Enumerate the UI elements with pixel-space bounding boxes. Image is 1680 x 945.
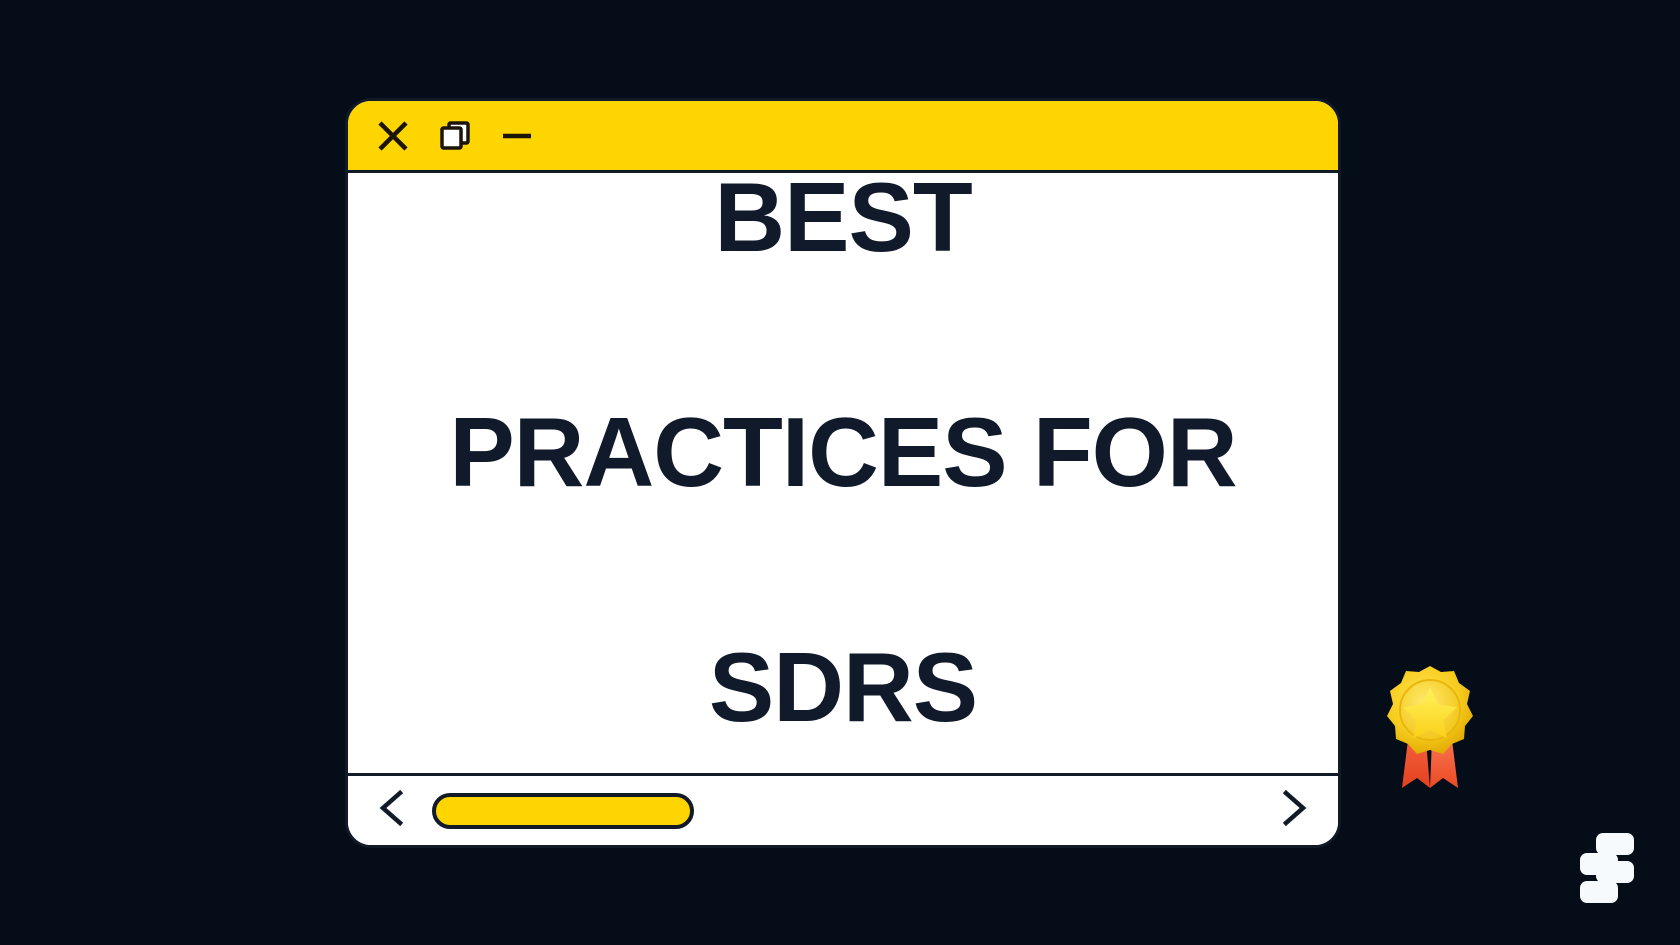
next-button[interactable] [1276,789,1312,833]
window-bottombar [348,773,1338,845]
close-button[interactable] [372,115,414,157]
close-x-icon [376,119,410,153]
window-content: BEST BEST PRACTICES FOR SDRS [348,173,1338,773]
prev-button[interactable] [374,789,410,833]
chevron-right-icon [1279,789,1309,832]
retro-window: BEST BEST PRACTICES FOR SDRS [345,98,1341,848]
scrollbar-track[interactable] [432,789,1254,833]
page-background: BEST BEST PRACTICES FOR SDRS [0,0,1680,945]
headline-line-2: PRACTICES FOR [449,394,1236,512]
chevron-left-icon [377,789,407,832]
brand-s-logo [1568,831,1636,907]
headline-text: BEST PRACTICES FOR SDRS [449,98,1236,848]
headline-line-3: SDRS [449,629,1236,747]
award-medal-emoji [1378,662,1482,792]
headline-line-1: BEST [449,159,1236,277]
scrollbar-thumb[interactable] [432,793,694,829]
